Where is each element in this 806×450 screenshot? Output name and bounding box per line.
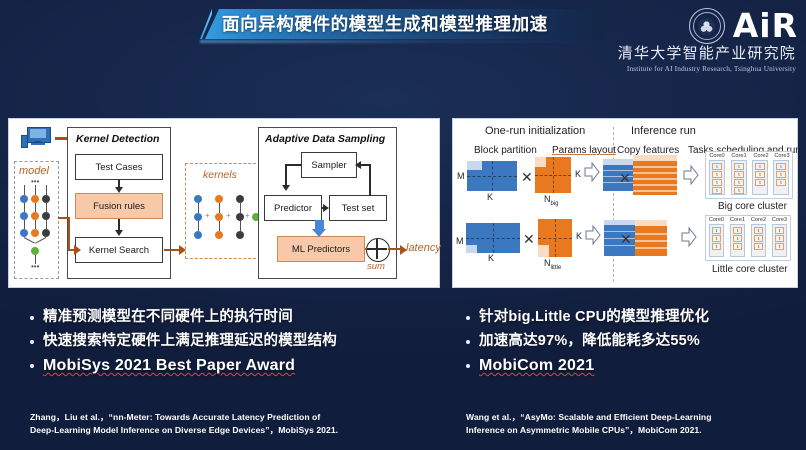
slide-header: 面向异构硬件的模型生成和模型推理加速 AiR 清华大学智能产业研究院 Insti… [0,0,806,88]
hollow-arrow-2 [683,165,699,185]
adaptive-sampling-title: Adaptive Data Sampling [265,133,385,145]
box-test-set: Test set [329,195,387,221]
citation-line: Inference on Asymmetric Mobile CPUs”，Mob… [466,424,802,437]
task-cell: t [754,227,763,234]
title-underglow [200,40,620,43]
model-label: model [19,165,49,177]
hollow-arrow-1 [584,162,600,182]
blue-down-arrow-head [312,229,326,237]
kernel-node [194,213,202,221]
task-cell: t [712,171,722,178]
little-core-cluster-label: Little core cluster [712,264,788,275]
air-logo: AiR 清华大学智能产业研究院 Institute for AI Industr… [612,6,798,80]
list-item: 加速高达97%，降低能耗多达55% [466,331,802,352]
graph-node [31,229,39,237]
bullet-text: 针对big.Little CPU的模型推理优化 [479,307,709,328]
bullet-dot-icon [30,316,34,320]
left-bullet-list: 精准预测模型在不同硬件上的执行时间 快速搜索特定硬件上满足推理延迟的模型结构 M… [30,307,440,379]
core-label-0-big: Core0 [707,153,727,159]
kernel-edge [240,203,241,213]
nn-meter-diagram: model ••• ••• [9,119,439,287]
matrix-label-k-little: K [488,253,494,263]
left-citation: Zhang，Liu et al.，“nn-Meter: Towards Accu… [30,411,442,436]
kernel-detection-title: Kernel Detection [76,133,159,145]
right-citation: Wang et al.，“AsyMo: Scalable and Efficie… [466,411,802,436]
bullet-dot-icon [466,316,470,320]
graph-node [42,195,50,203]
box-predictor: Predictor [264,195,322,221]
task-cell: t [712,227,721,234]
hollow-arrow-4 [681,227,697,247]
bullet-text: 加速高达97%，降低能耗多达55% [479,331,700,352]
citation-line: Zhang，Liu et al.，“nn-Meter: Towards Accu… [30,411,442,424]
search-to-kernels-head [179,245,186,255]
section-title-inference: Inference run [631,125,696,137]
kernels-label: kernels [203,169,237,181]
list-item: MobiCom 2021 [466,355,802,376]
graph-node [31,195,39,203]
model-dots-bottom: ••• [31,262,39,271]
task-cell: t [712,179,722,186]
core-label-1-big: Core1 [729,153,749,159]
kernel-node [215,231,223,239]
task-cell: t [712,163,722,170]
matrix-a-little [466,223,520,253]
graph-node [20,195,28,203]
matrix-label-m-big: M [457,171,465,181]
multiply-symbol-1: ✕ [521,170,533,184]
graph-node-output [31,247,39,255]
ml-to-sum [365,248,367,250]
multiply-symbol-2: ✕ [619,171,631,185]
graph-edge [24,185,25,195]
ads-wire-3 [369,164,371,196]
task-cell: t [754,235,763,242]
copy-features-big [633,155,677,195]
task-cell: t [776,163,786,170]
graph-edge [35,203,36,212]
model-to-search-v [68,217,70,250]
core-label-2-little: Core2 [749,217,768,223]
matrix-label-k-out-little: K [576,231,582,241]
kernel-plus: + [245,211,250,220]
core-label-0-little: Core0 [707,217,726,223]
matrix-b-big [535,157,571,193]
logo-top-row: AiR [612,6,798,46]
copy-features-little [635,220,667,256]
kernel-node [236,213,244,221]
kernel-edge [240,221,241,231]
kernel-node [236,231,244,239]
task-cell: t [755,179,765,186]
task-cell: t [712,235,721,242]
kernel-node [215,213,223,221]
page-title: 面向异构硬件的模型生成和模型推理加速 [222,10,548,38]
ads-wire-2 [285,164,287,186]
sum-label: sum [367,261,385,272]
column-header-block-partition: Block partition [474,145,537,156]
logo-english-name: Institute for AI Industry Research, Tsin… [612,64,796,73]
matrix-b-little [538,219,572,257]
task-cell: t [755,163,765,170]
kernel-node [194,231,202,239]
box-test-cases: Test Cases [75,154,163,180]
graph-edge [46,203,47,212]
computer-model-icon [21,127,51,149]
kernel-plus: + [205,211,210,220]
bullet-dot-icon [30,340,34,344]
task-cell: t [733,243,742,250]
matrix-label-k-out-big: K [575,169,581,179]
kernel-node [236,195,244,203]
list-item: 针对big.Little CPU的模型推理优化 [466,307,802,328]
bullet-text: MobiCom 2021 [479,355,594,376]
kernel-node [215,195,223,203]
matrix-label-nbig: Nbig [544,194,559,207]
big-core-cluster-label: Big core cluster [718,201,787,212]
tsinghua-seal-icon [689,8,725,44]
slide-root: 面向异构硬件的模型生成和模型推理加速 AiR 清华大学智能产业研究院 Insti… [0,0,806,450]
task-cell: t [734,171,744,178]
air-wordmark: AiR [733,9,798,43]
list-item: 快速搜索特定硬件上满足推理延迟的模型结构 [30,331,440,352]
graph-edge [46,185,47,195]
box-kernel-search: Kernel Search [75,237,163,263]
bullet-text: 快速搜索特定硬件上满足推理延迟的模型结构 [43,331,337,352]
multiply-symbol-3: ✕ [523,232,535,246]
core-label-3-little: Core3 [770,217,789,223]
multiply-symbol-4: ✕ [620,232,632,246]
bullet-dot-icon [466,364,470,368]
bullet-dot-icon [30,364,34,368]
task-cell: t [776,171,786,178]
column-header-params-layout: Params layout [552,145,616,156]
right-bullet-list: 针对big.Little CPU的模型推理优化 加速高达97%，降低能耗多达55… [466,307,802,379]
task-cell: t [734,179,744,186]
graph-node [42,212,50,220]
core-label-3-big: Core3 [772,153,792,159]
kernel-edge [219,203,220,213]
logo-chinese-name: 清华大学智能产业研究院 [612,44,796,64]
graph-edge [24,220,25,229]
sum-circle [366,238,390,262]
task-cell: t [775,235,784,242]
box-ml-predictors: ML Predictors [277,236,365,262]
task-cell: t [754,243,763,250]
hollow-arrow-3 [585,225,601,245]
core-label-1-little: Core1 [728,217,747,223]
graph-edge [24,203,25,212]
kernel-node [194,195,202,203]
task-cell: t [712,243,721,250]
ads-wire-1 [285,164,302,166]
ads-arrow-2 [355,161,361,169]
kernel-edge [198,221,199,231]
box-sampler: Sampler [301,152,357,178]
section-title-initialization: One-run initialization [485,125,585,137]
sum-plus-v [376,239,377,259]
task-cell: t [734,187,744,194]
ads-arrow-3 [323,204,329,212]
graph-node [31,212,39,220]
graph-edge [46,220,47,229]
kernel-plus: + [226,211,231,220]
citation-line: Deep-Learning Model Inference on Diverse… [30,424,442,437]
task-cell: t [734,163,744,170]
graph-node [20,229,28,237]
task-cell: t [775,227,784,234]
task-cell: t [733,235,742,242]
bullet-dot-icon [466,340,470,344]
list-item: MobiSys 2021 Best Paper Award [30,355,440,376]
task-cell: t [755,171,765,178]
model-to-search-head [74,245,81,255]
ads-arrow-1 [282,185,290,191]
matrix-label-m-little: M [456,236,464,246]
graph-edge [35,185,36,195]
kernel-edge [198,203,199,213]
asymo-diagram: One-run initialization Inference run Blo… [453,119,797,287]
task-cell: t [712,187,722,194]
kd-arrowhead-1 [115,187,123,193]
task-cell: t [776,179,786,186]
kd-arrowhead-2 [115,230,123,236]
task-cell: t [775,243,784,250]
citation-line: Wang et al.，“AsyMo: Scalable and Efficie… [466,411,802,424]
kernel-edge [219,221,220,231]
graph-edge [35,220,36,229]
graph-node [42,229,50,237]
left-figure-panel: model ••• ••• [8,118,440,288]
latency-label: latency [406,242,441,254]
box-fusion-rules: Fusion rules [75,193,163,219]
matrix-label-nlittle: Nlittle [544,258,561,271]
matrix-label-k-big: K [487,192,493,202]
bullet-text: 精准预测模型在不同硬件上的执行时间 [43,307,293,328]
graph-node [20,212,28,220]
right-figure-panel: One-run initialization Inference run Blo… [452,118,798,288]
list-item: 精准预测模型在不同硬件上的执行时间 [30,307,440,328]
matrix-a-big [467,161,517,191]
task-cell: t [733,227,742,234]
core-label-2-big: Core2 [751,153,771,159]
bullet-text: MobiSys 2021 Best Paper Award [43,355,295,376]
